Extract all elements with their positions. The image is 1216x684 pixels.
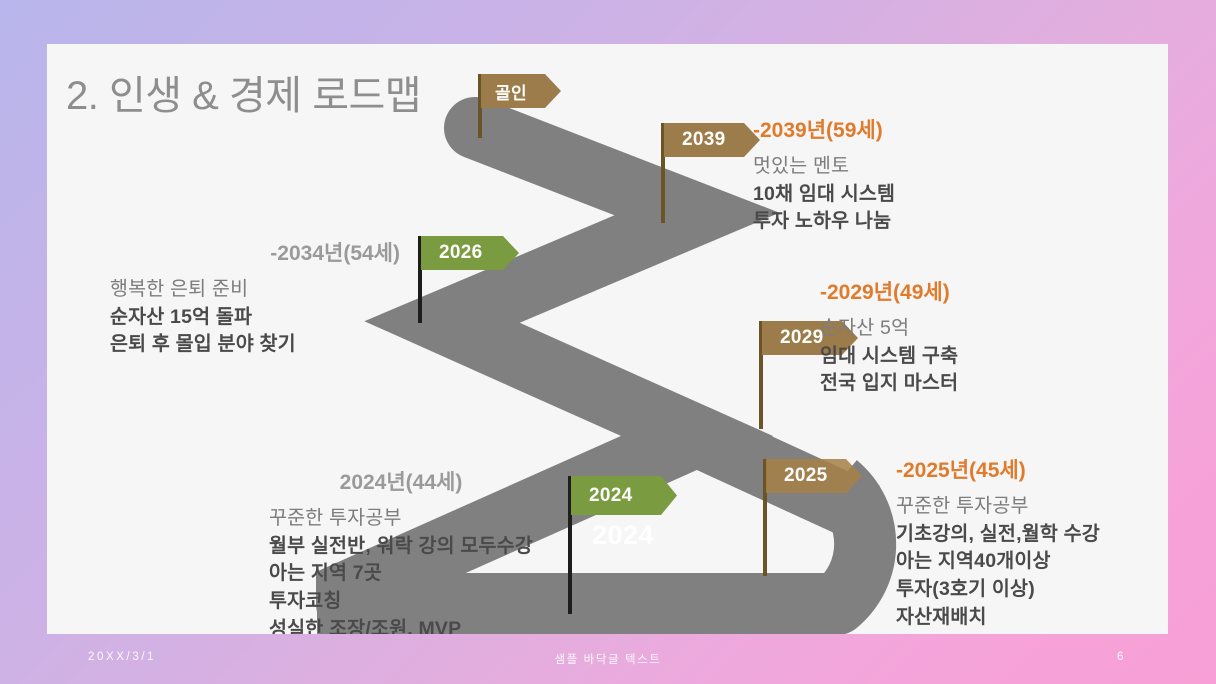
flag-label: 2024 <box>571 476 677 515</box>
flag-label: 골인 <box>481 74 561 108</box>
milestone-2024: 2024년(44세) 꾸준한 투자공부 월부 실전반, 워락 강의 모두수강 아… <box>269 466 569 634</box>
page-title: 2. 인생 & 경제 로드맵 <box>66 63 421 121</box>
milestone-heading: 2024년(44세) <box>269 466 533 496</box>
milestone-line: 투자 노하우 나눔 <box>753 208 895 236</box>
milestone-line: 투자코칭 <box>269 588 569 616</box>
milestone-heading: -2025년(45세) <box>896 454 1100 484</box>
milestone-line: 순자산 5억 <box>820 315 958 343</box>
footer-center-text: 샘플 바닥글 텍스트 <box>0 651 1216 667</box>
milestone-heading: -2034년(54세) <box>110 237 400 267</box>
milestone-line: 꾸준한 투자공부 <box>896 493 1100 521</box>
flag-label: 2025 <box>766 459 862 493</box>
milestone-line: 전국 입지 마스터 <box>820 370 958 398</box>
slide-card: 2. 인생 & 경제 로드맵 골인 2039 2026 2029 2025 20… <box>47 44 1168 634</box>
footer-page-number: 6 <box>1117 651 1126 663</box>
milestone-2025: -2025년(45세) 꾸준한 투자공부 기초강의, 실전,월학 수강 아는 지… <box>896 454 1100 631</box>
ghost-label-2024: 2024 <box>592 520 654 551</box>
milestone-line: 은퇴 후 몰입 분야 찾기 <box>110 331 400 359</box>
milestone-2034: -2034년(54세) 행복한 은퇴 준비 순자산 15억 돌파 은퇴 후 몰입… <box>110 237 400 359</box>
milestone-line: 순자산 15억 돌파 <box>110 304 400 332</box>
milestone-line: 행복한 은퇴 준비 <box>110 276 400 304</box>
flag-label: 2026 <box>421 236 519 270</box>
milestone-2029: -2029년(49세) 순자산 5억 임대 시스템 구축 전국 입지 마스터 <box>820 276 958 398</box>
milestone-heading: -2029년(49세) <box>820 276 958 306</box>
milestone-heading: -2039년(59세) <box>753 114 895 144</box>
flag-label: 2039 <box>664 123 760 157</box>
milestone-line: 멋있는 멘토 <box>753 153 895 181</box>
milestone-2039: -2039년(59세) 멋있는 멘토 10채 임대 시스템 투자 노하우 나눔 <box>753 114 895 236</box>
milestone-line: 월부 실전반, 워락 강의 모두수강 <box>269 533 569 561</box>
milestone-line: 투자(3호기 이상) <box>896 576 1100 604</box>
milestone-line: 자산재배치 <box>896 604 1100 632</box>
milestone-line: 성실한 조장/조원, MVP <box>269 616 569 634</box>
milestone-line: 기초강의, 실전,월학 수강 <box>896 521 1100 549</box>
milestone-line: 10채 임대 시스템 <box>753 181 895 209</box>
milestone-line: 아는 지역 7곳 <box>269 560 569 588</box>
milestone-line: 아는 지역40개이상 <box>896 548 1100 576</box>
milestone-line: 꾸준한 투자공부 <box>269 505 569 533</box>
footer-bar: 20XX/3/1 샘플 바닥글 텍스트 6 <box>0 634 1216 684</box>
milestone-line: 임대 시스템 구축 <box>820 343 958 371</box>
